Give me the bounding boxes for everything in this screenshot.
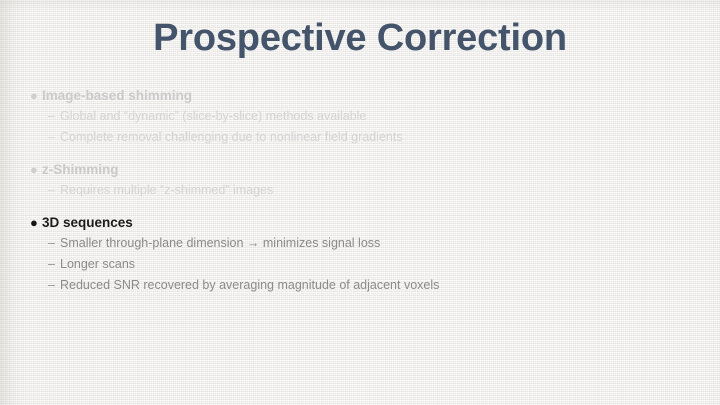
bullet-group-heading: ●z-Shimming — [30, 160, 690, 180]
top-edge-shading — [0, 0, 720, 10]
dash-bullet-icon: – — [48, 233, 60, 254]
bullet-group-heading: ●Image-based shimming — [30, 86, 690, 106]
bullet-group-heading-label: Image-based shimming — [42, 86, 192, 106]
bullet-list: ●Image-based shimming–Global and “dynami… — [30, 86, 690, 296]
sub-bullet-item: –Requires multiple “z-shimmed” images — [30, 180, 690, 201]
bullet-dot-icon: ● — [30, 213, 42, 233]
sub-bullet-label: Complete removal challenging due to nonl… — [60, 127, 403, 148]
bullet-group: ●z-Shimming–Requires multiple “z-shimmed… — [30, 160, 690, 201]
dash-bullet-icon: – — [48, 275, 60, 296]
sub-bullet-label: Reduced SNR recovered by averaging magni… — [60, 275, 439, 296]
sub-bullet-item: –Global and “dynamic” (slice-by-slice) m… — [30, 106, 690, 127]
sub-bullet-item: –Smaller through-plane dimension → minim… — [30, 233, 690, 254]
sub-bullet-label: Global and “dynamic” (slice-by-slice) me… — [60, 106, 366, 127]
dash-bullet-icon: – — [48, 254, 60, 275]
sub-bullet-item: –Complete removal challenging due to non… — [30, 127, 690, 148]
bullet-group-heading-label: z-Shimming — [42, 160, 119, 180]
sub-bullet-label: Smaller through-plane dimension → minimi… — [60, 233, 380, 254]
bullet-group-heading: ●3D sequences — [30, 213, 690, 233]
bullet-group: ●3D sequences–Smaller through-plane dime… — [30, 213, 690, 296]
dash-bullet-icon: – — [48, 180, 60, 201]
dash-bullet-icon: – — [48, 127, 60, 148]
sub-bullet-label: Longer scans — [60, 254, 135, 275]
bullet-group: ●Image-based shimming–Global and “dynami… — [30, 86, 690, 148]
bullet-dot-icon: ● — [30, 86, 42, 106]
bullet-dot-icon: ● — [30, 160, 42, 180]
bullet-group-heading-label: 3D sequences — [42, 213, 133, 233]
sub-bullet-label: Requires multiple “z-shimmed” images — [60, 180, 273, 201]
slide-title: Prospective Correction — [0, 17, 720, 60]
sub-bullet-item: –Longer scans — [30, 254, 690, 275]
sub-bullet-item: –Reduced SNR recovered by averaging magn… — [30, 275, 690, 296]
left-edge-shading — [0, 0, 24, 405]
presentation-slide: Prospective Correction ●Image-based shim… — [0, 0, 720, 405]
dash-bullet-icon: – — [48, 106, 60, 127]
